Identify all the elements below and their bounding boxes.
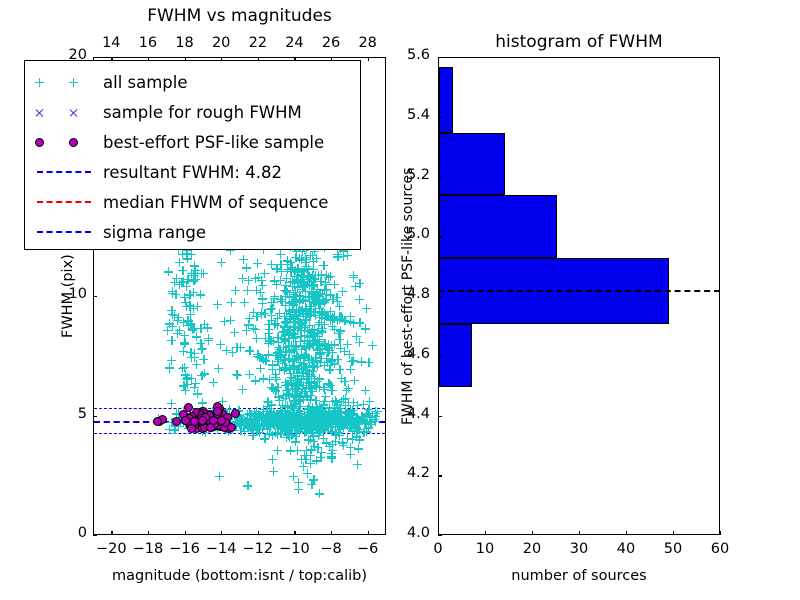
scatter-point-all-sample (266, 305, 275, 314)
scatter-point-all-sample (278, 328, 287, 337)
scatter-point-all-sample (288, 308, 297, 317)
scatter-point-all-sample (347, 357, 356, 366)
scatter-point-all-sample (273, 422, 282, 431)
scatter-point-all-sample (304, 378, 313, 387)
scatter-point-all-sample (329, 409, 338, 418)
scatter-point-all-sample (184, 316, 193, 325)
scatter-point-all-sample (168, 287, 177, 296)
scatter-point-all-sample (314, 291, 323, 300)
scatter-point-all-sample (288, 430, 297, 439)
scatter-point-all-sample (334, 408, 343, 417)
scatter-point-all-sample (300, 331, 309, 340)
scatter-point-all-sample (308, 271, 317, 280)
scatter-point-all-sample (266, 305, 275, 314)
scatter-point-psf-sample (153, 417, 162, 426)
scatter-point-all-sample (309, 257, 318, 266)
circle-icon (35, 138, 44, 147)
scatter-point-all-sample (310, 308, 319, 317)
scatter-point-all-sample (244, 320, 253, 329)
scatter-point-all-sample (321, 296, 330, 305)
scatter-point-psf-sample (227, 423, 236, 432)
scatter-point-all-sample (287, 379, 296, 388)
scatter-point-all-sample (362, 427, 371, 436)
scatter-point-all-sample (288, 411, 297, 420)
scatter-point-all-sample (245, 346, 254, 355)
scatter-point-all-sample (339, 395, 348, 404)
scatter-point-all-sample (183, 254, 192, 263)
scatter-point-all-sample (247, 424, 256, 433)
scatter-point-all-sample (371, 409, 380, 418)
scatter-point-all-sample (326, 381, 335, 390)
scatter-point-all-sample (284, 342, 293, 351)
scatter-point-all-sample (315, 289, 324, 298)
scatter-point-all-sample (364, 405, 373, 414)
scatter-point-all-sample (306, 340, 315, 349)
scatter-point-all-sample (291, 296, 300, 305)
scatter-point-all-sample (287, 341, 296, 350)
scatter-point-all-sample (289, 298, 298, 307)
scatter-point-all-sample (333, 316, 342, 325)
scatter-point-all-sample (340, 347, 349, 356)
scatter-point-all-sample (246, 411, 255, 420)
scatter-point-all-sample (191, 266, 200, 275)
scatter-point-all-sample (232, 343, 241, 352)
scatter-point-all-sample (330, 340, 339, 349)
scatter-point-all-sample (327, 357, 336, 366)
scatter-point-all-sample (327, 449, 336, 458)
scatter-point-all-sample (343, 251, 352, 260)
scatter-point-all-sample (317, 326, 326, 335)
scatter-point-all-sample (290, 392, 299, 401)
scatter-point-all-sample (290, 409, 299, 418)
scatter-point-all-sample (323, 358, 332, 367)
legend-item-all-sample[interactable]: all sample (25, 67, 360, 97)
scatter-point-all-sample (349, 356, 358, 365)
scatter-point-all-sample (328, 295, 337, 304)
scatter-point-all-sample (310, 442, 319, 451)
scatter-point-all-sample (243, 410, 252, 419)
scatter-point-all-sample (293, 381, 302, 390)
scatter-point-all-sample (327, 411, 336, 420)
scatter-point-all-sample (349, 409, 358, 418)
scatter-point-all-sample (296, 332, 305, 341)
scatter-point-all-sample (267, 304, 276, 313)
scatter-point-all-sample (281, 336, 290, 345)
scatter-point-all-sample (353, 460, 362, 469)
scatter-point-all-sample (305, 383, 314, 392)
scatter-point-all-sample (315, 339, 324, 348)
legend-label-resultant-fwhm: resultant FWHM: 4.82 (103, 163, 282, 182)
scatter-point-all-sample (290, 330, 299, 339)
hist-x-tick (485, 531, 486, 535)
scatter-point-all-sample (270, 410, 279, 419)
scatter-point-all-sample (364, 423, 373, 432)
scatter-point-all-sample (291, 310, 300, 319)
scatter-point-all-sample (318, 328, 327, 337)
histogram-bar (439, 324, 472, 387)
scatter-point-all-sample (277, 409, 286, 418)
scatter-point-all-sample (308, 422, 317, 431)
x-tick (185, 531, 186, 535)
scatter-point-all-sample (313, 422, 322, 431)
scatter-point-all-sample (249, 308, 258, 317)
scatter-point-all-sample (163, 326, 172, 335)
scatter-point-all-sample (285, 328, 294, 337)
scatter-point-all-sample (285, 298, 294, 307)
scatter-point-all-sample (288, 330, 297, 339)
scatter-point-all-sample (311, 307, 320, 316)
scatter-point-all-sample (312, 292, 321, 301)
scatter-point-all-sample (346, 405, 355, 414)
scatter-point-all-sample (301, 258, 310, 267)
scatter-point-all-sample (270, 292, 279, 301)
scatter-point-all-sample (313, 339, 322, 348)
scatter-point-all-sample (305, 310, 314, 319)
scatter-point-all-sample (336, 326, 345, 335)
scatter-point-all-sample (324, 273, 333, 282)
hist-x-tick (532, 531, 533, 535)
scatter-point-all-sample (293, 277, 302, 286)
scatter-point-all-sample (310, 274, 319, 283)
scatter-point-all-sample (318, 408, 327, 417)
scatter-point-all-sample (328, 295, 337, 304)
scatter-point-all-sample (301, 296, 310, 305)
scatter-point-all-sample (312, 290, 321, 299)
scatter-point-all-sample (288, 406, 297, 415)
scatter-point-all-sample (330, 403, 339, 412)
scatter-point-all-sample (280, 424, 289, 433)
scatter-point-all-sample (181, 370, 190, 379)
scatter-point-all-sample (287, 267, 296, 276)
scatter-point-all-sample (290, 292, 299, 301)
scatter-point-all-sample (289, 333, 298, 342)
scatter-point-all-sample (309, 280, 318, 289)
scatter-point-all-sample (216, 340, 225, 349)
scatter-point-all-sample (293, 446, 302, 455)
scatter-point-all-sample (308, 409, 317, 418)
scatter-point-all-sample (299, 281, 308, 290)
scatter-point-all-sample (312, 357, 321, 366)
scatter-point-all-sample (260, 269, 269, 278)
scatter-point-all-sample (226, 316, 235, 325)
scatter-point-all-sample (186, 348, 195, 357)
legend-item-psf-sample[interactable]: best-effort PSF-like sample (25, 127, 360, 157)
scatter-point-all-sample (285, 315, 294, 324)
scatter-point-all-sample (307, 281, 316, 290)
scatter-point-all-sample (240, 427, 249, 436)
scatter-point-all-sample (263, 402, 272, 411)
scatter-point-all-sample (293, 408, 302, 417)
scatter-point-all-sample (283, 381, 292, 390)
scatter-point-all-sample (319, 383, 328, 392)
scatter-point-all-sample (335, 431, 344, 440)
scatter-point-all-sample (279, 355, 288, 364)
scatter-point-all-sample (315, 313, 324, 322)
scatter-point-all-sample (282, 412, 291, 421)
scatter-point-all-sample (281, 348, 290, 357)
scatter-point-all-sample (293, 315, 302, 324)
scatter-point-all-sample (182, 302, 191, 311)
scatter-point-all-sample (303, 309, 312, 318)
scatter-point-all-sample (332, 293, 341, 302)
scatter-point-all-sample (301, 351, 310, 360)
scatter-point-all-sample (294, 478, 303, 487)
scatter-point-all-sample (297, 455, 306, 464)
scatter-point-all-sample (281, 281, 290, 290)
scatter-point-all-sample (261, 334, 270, 343)
scatter-point-all-sample (291, 266, 300, 275)
scatter-point-all-sample (307, 355, 316, 364)
scatter-point-all-sample (320, 411, 329, 420)
scatter-point-all-sample (180, 293, 189, 302)
scatter-point-all-sample (290, 267, 299, 276)
scatter-point-all-sample (325, 365, 334, 374)
scatter-point-all-sample (268, 455, 277, 464)
scatter-point-all-sample (286, 258, 295, 267)
scatter-point-all-sample (274, 343, 283, 352)
scatter-point-all-sample (337, 374, 346, 383)
scatter-point-all-sample (259, 410, 268, 419)
scatter-point-all-sample (313, 332, 322, 341)
scatter-point-all-sample (306, 395, 315, 404)
scatter-point-all-sample (346, 317, 355, 326)
scatter-point-all-sample (323, 412, 332, 421)
scatter-point-all-sample (306, 451, 315, 460)
scatter-point-all-sample (258, 294, 267, 303)
scatter-point-all-sample (316, 277, 325, 286)
scatter-point-all-sample (287, 431, 296, 440)
scatter-point-all-sample (295, 427, 304, 436)
scatter-point-all-sample (250, 409, 259, 418)
scatter-point-all-sample (245, 314, 254, 323)
scatter-point-all-sample (193, 389, 202, 398)
scatter-point-all-sample (311, 271, 320, 280)
scatter-point-all-sample (317, 320, 326, 329)
scatter-point-all-sample (285, 391, 294, 400)
scatter-point-all-sample (254, 424, 263, 433)
hist-x-tick (720, 531, 721, 535)
x-tick (368, 531, 369, 535)
scatter-point-all-sample (177, 278, 186, 287)
dashdot-line-icon (37, 231, 91, 233)
scatter-point-all-sample (306, 424, 315, 433)
scatter-point-all-sample (286, 411, 295, 420)
scatter-point-all-sample (282, 274, 291, 283)
plus-icon (69, 78, 78, 87)
scatter-point-all-sample (280, 356, 289, 365)
scatter-point-all-sample (285, 330, 294, 339)
scatter-point-all-sample (264, 339, 273, 348)
scatter-point-all-sample (260, 309, 269, 318)
scatter-point-all-sample (172, 274, 181, 283)
scatter-point-all-sample (357, 357, 366, 366)
scatter-point-all-sample (320, 313, 329, 322)
scatter-point-all-sample (350, 376, 359, 385)
scatter-point-all-sample (273, 333, 282, 342)
scatter-point-all-sample (187, 374, 196, 383)
scatter-point-all-sample (355, 318, 364, 327)
scatter-point-all-sample (303, 412, 312, 421)
scatter-point-all-sample (290, 408, 299, 417)
scatter-point-all-sample (357, 412, 366, 421)
scatter-point-all-sample (288, 422, 297, 431)
scatter-point-all-sample (304, 436, 313, 445)
scatter-point-all-sample (266, 410, 275, 419)
scatter-point-all-sample (273, 446, 282, 455)
scatter-point-all-sample (315, 300, 324, 309)
scatter-point-all-sample (180, 363, 189, 372)
scatter-point-all-sample (305, 321, 314, 330)
scatter-point-all-sample (168, 310, 177, 319)
scatter-point-all-sample (315, 348, 324, 357)
scatter-point-all-sample (312, 254, 321, 263)
scatter-point-all-sample (315, 489, 324, 498)
scatter-point-all-sample (281, 292, 290, 301)
scatter-point-all-sample (215, 472, 224, 481)
scatter-point-all-sample (291, 288, 300, 297)
legend-item-resultant-fwhm[interactable]: resultant FWHM: 4.82 (25, 157, 360, 187)
y-tick (93, 57, 97, 58)
scatter-point-all-sample (285, 341, 294, 350)
legend-label-sigma-range: sigma range (103, 223, 206, 242)
scatter-point-all-sample (320, 361, 329, 370)
scatter-point-all-sample (333, 297, 342, 306)
scatter-point-all-sample (320, 339, 329, 348)
hist-x-tick-label: 60 (698, 541, 742, 557)
scatter-point-all-sample (295, 396, 304, 405)
scatter-point-all-sample (328, 411, 337, 420)
scatter-point-all-sample (302, 374, 311, 383)
scatter-point-all-sample (300, 410, 309, 419)
scatter-point-all-sample (266, 336, 275, 345)
scatter-point-all-sample (306, 383, 315, 392)
x-tick (148, 531, 149, 535)
legend-item-rough-fwhm[interactable]: sample for rough FWHM (25, 97, 360, 127)
scatter-point-all-sample (324, 379, 333, 388)
scatter-point-all-sample (336, 312, 345, 321)
scatter-point-all-sample (321, 295, 330, 304)
scatter-point-all-sample (330, 280, 339, 289)
scatter-point-all-sample (294, 322, 303, 331)
scatter-point-all-sample (316, 423, 325, 432)
scatter-point-all-sample (258, 281, 267, 290)
scatter-point-all-sample (306, 251, 315, 260)
scatter-point-all-sample (315, 344, 324, 353)
scatter-point-all-sample (203, 323, 212, 332)
scatter-point-all-sample (302, 392, 311, 401)
scatter-point-all-sample (280, 424, 289, 433)
scatter-point-all-sample (297, 319, 306, 328)
scatter-point-all-sample (335, 315, 344, 324)
plot-legend[interactable]: all sample sample for rough FWHM best-ef… (24, 60, 361, 250)
histogram-bar (439, 133, 505, 196)
scatter-point-all-sample (307, 480, 316, 489)
y-tick (93, 296, 97, 297)
scatter-point-all-sample (295, 298, 304, 307)
scatter-point-all-sample (292, 306, 301, 315)
scatter-point-all-sample (258, 354, 267, 363)
scatter-point-all-sample (286, 278, 295, 287)
scatter-point-all-sample (289, 322, 298, 331)
scatter-point-all-sample (296, 409, 305, 418)
hist-y-tick (438, 177, 442, 178)
scatter-point-all-sample (253, 350, 262, 359)
hist-x-tick-label: 10 (463, 541, 507, 557)
scatter-point-all-sample (294, 307, 303, 316)
scatter-point-all-sample (303, 272, 312, 281)
scatter-point-all-sample (304, 293, 313, 302)
scatter-point-all-sample (349, 398, 358, 407)
scatter-point-all-sample (291, 399, 300, 408)
scatter-point-all-sample (326, 307, 335, 316)
scatter-point-all-sample (308, 358, 317, 367)
scatter-point-all-sample (284, 331, 293, 340)
scatter-point-all-sample (267, 316, 276, 325)
y-tick (93, 535, 97, 536)
scatter-point-all-sample (336, 312, 345, 321)
scatter-point-all-sample (292, 275, 301, 284)
legend-item-sigma-range[interactable]: sigma range (25, 217, 360, 247)
scatter-point-all-sample (279, 423, 288, 432)
scatter-point-all-sample (281, 378, 290, 387)
scatter-point-all-sample (259, 405, 268, 414)
scatter-point-all-sample (283, 406, 292, 415)
scatter-point-all-sample (178, 364, 187, 373)
sigma-upper-line (94, 408, 385, 409)
scatter-point-all-sample (292, 354, 301, 363)
scatter-point-all-sample (335, 365, 344, 374)
scatter-point-all-sample (332, 398, 341, 407)
scatter-point-all-sample (357, 357, 366, 366)
legend-label-psf-sample: best-effort PSF-like sample (103, 133, 324, 152)
scatter-point-all-sample (290, 423, 299, 432)
scatter-point-all-sample (290, 424, 299, 433)
scatter-point-all-sample (296, 395, 305, 404)
scatter-point-all-sample (302, 264, 311, 273)
scatter-point-all-sample (318, 307, 327, 316)
scatter-point-all-sample (190, 261, 199, 270)
scatter-point-all-sample (258, 299, 267, 308)
scatter-point-all-sample (180, 339, 189, 348)
scatter-point-all-sample (307, 308, 316, 317)
scatter-point-all-sample (281, 394, 290, 403)
scatter-point-all-sample (274, 392, 283, 401)
scatter-point-all-sample (303, 339, 312, 348)
scatter-point-all-sample (170, 278, 179, 287)
scatter-point-all-sample (312, 356, 321, 365)
scatter-point-all-sample (276, 295, 285, 304)
scatter-point-all-sample (174, 313, 183, 322)
scatter-point-all-sample (323, 311, 332, 320)
scatter-point-all-sample (301, 306, 310, 315)
scatter-point-all-sample (265, 325, 274, 334)
scatter-point-all-sample (352, 423, 361, 432)
scatter-point-all-sample (321, 341, 330, 350)
scatter-point-all-sample (310, 374, 319, 383)
scatter-point-all-sample (312, 339, 321, 348)
scatter-point-all-sample (265, 375, 274, 384)
scatter-point-all-sample (258, 424, 267, 433)
scatter-point-all-sample (289, 317, 298, 326)
scatter-point-all-sample (312, 456, 321, 465)
histogram-bar (439, 195, 557, 258)
scatter-point-all-sample (183, 316, 192, 325)
scatter-point-all-sample (190, 353, 199, 362)
scatter-point-all-sample (290, 354, 299, 363)
scatter-point-all-sample (299, 369, 308, 378)
legend-item-median-fwhm[interactable]: median FHWM of sequence (25, 187, 360, 217)
scatter-point-all-sample (279, 327, 288, 336)
